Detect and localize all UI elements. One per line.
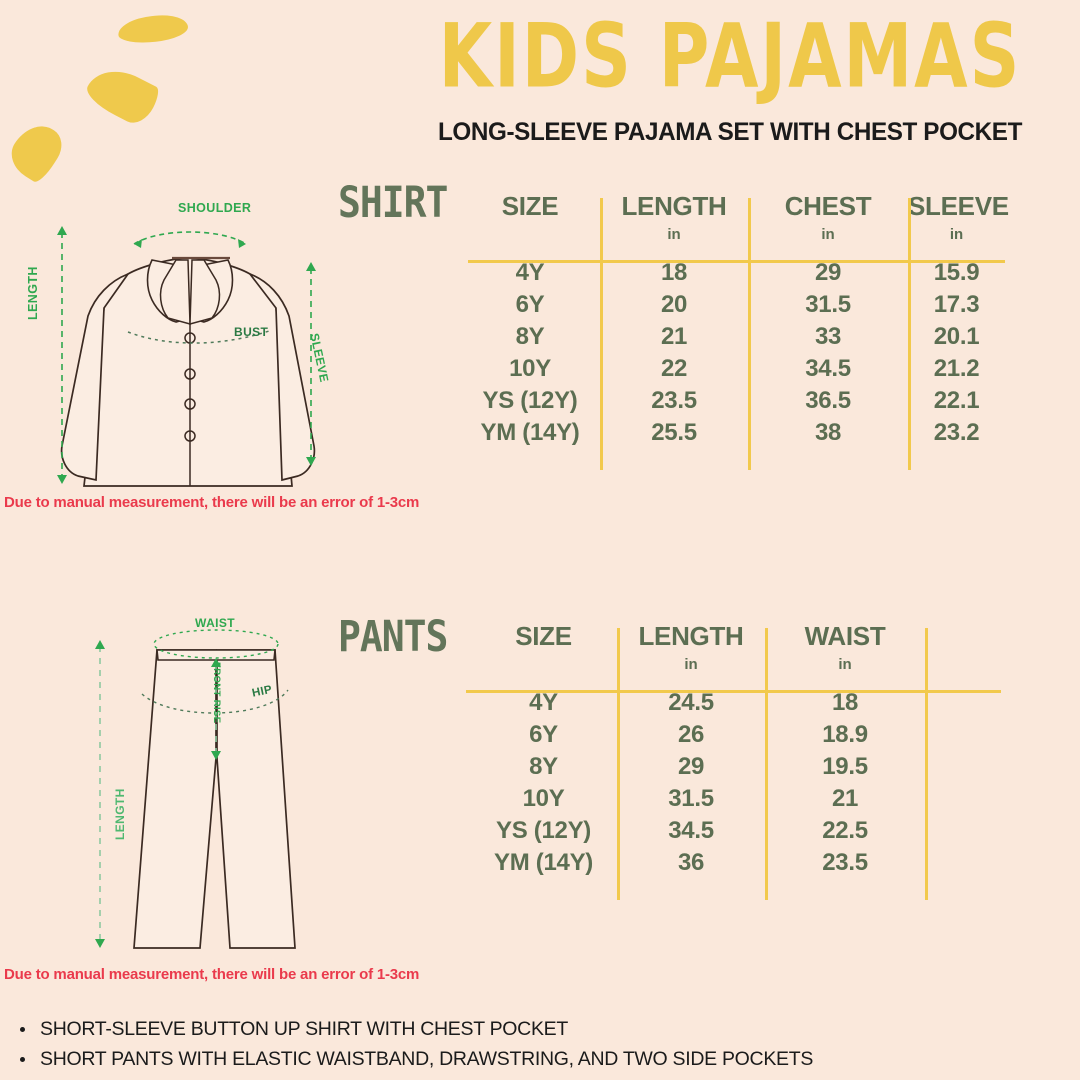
- shirt-label-shoulder: SHOULDER: [178, 201, 251, 215]
- pants-section-heading: PANTS: [338, 612, 447, 661]
- shirt-divider-2: [748, 198, 751, 470]
- shirt-table-body: 4Y 18 29 15.9 6Y 20 31.5 17.3 8Y 21 33 2…: [460, 257, 1005, 449]
- decorative-blob-2: [82, 59, 163, 129]
- pants-divider-1: [617, 628, 620, 900]
- table-row: YS (12Y) 23.5 36.5 22.1: [460, 385, 1005, 417]
- shirt-divider-3: [908, 198, 911, 470]
- table-row: 10Y 22 34.5 21.2: [460, 353, 1005, 385]
- pants-measurement-warning: Due to manual measurement, there will be…: [4, 966, 419, 983]
- pants-divider-2: [765, 628, 768, 900]
- pants-col-blank: [925, 622, 1005, 626]
- table-row: YM (14Y) 25.5 38 23.2: [460, 417, 1005, 449]
- shirt-col-size: SIZE: [460, 192, 600, 226]
- shirt-illustration: [0, 196, 360, 496]
- pants-header-rule: [466, 690, 1001, 693]
- shirt-col-sleeve: SLEEVE in: [908, 192, 1005, 243]
- list-item: SHORT-SLEEVE BUTTON UP SHIRT WITH CHEST …: [14, 1014, 1064, 1044]
- pants-divider-3: [925, 628, 928, 900]
- page-subtitle: LONG-SLEEVE PAJAMA SET WITH CHEST POCKET: [410, 118, 1050, 147]
- pants-col-length: LENGTH in: [617, 622, 765, 673]
- pants-col-size: SIZE: [470, 622, 617, 656]
- pants-label-length: LENGTH: [113, 788, 127, 840]
- pants-col-waist: WAIST in: [765, 622, 925, 673]
- shirt-size-table: SIZE LENGTH in CHEST in SLEEVE in 4Y 18 …: [460, 192, 1005, 449]
- shirt-label-length: LENGTH: [26, 266, 40, 320]
- shirt-label-bust: BUST: [234, 325, 268, 339]
- shirt-measurement-diagram: [0, 196, 360, 496]
- table-row: 8Y 21 33 20.1: [460, 321, 1005, 353]
- decorative-blob-1: [117, 12, 189, 45]
- list-item: SHORT PANTS WITH ELASTIC WAISTBAND, DRAW…: [14, 1044, 1064, 1074]
- product-feature-list: SHORT-SLEEVE BUTTON UP SHIRT WITH CHEST …: [14, 1014, 1064, 1074]
- shirt-header-rule: [468, 260, 1005, 263]
- table-row: 6Y 20 31.5 17.3: [460, 289, 1005, 321]
- shirt-col-chest: CHEST in: [748, 192, 908, 243]
- shirt-measurement-warning: Due to manual measurement, there will be…: [4, 494, 419, 511]
- decorative-blob-3: [3, 116, 69, 185]
- pants-illustration: [60, 608, 390, 968]
- shirt-table-header-row: SIZE LENGTH in CHEST in SLEEVE in: [460, 192, 1005, 243]
- pants-size-table: SIZE LENGTH in WAIST in 4Y 24.5 18 6Y 26: [470, 622, 1005, 879]
- pants-measurement-diagram: [60, 608, 390, 968]
- shirt-section-heading: SHIRT: [338, 178, 447, 227]
- shirt-col-length: LENGTH in: [600, 192, 748, 243]
- pants-label-waist: WAIST: [195, 616, 235, 630]
- pants-label-front-rise: FRONT RISE: [211, 662, 222, 724]
- page-title: KIDS PAJAMAS: [432, 12, 1027, 100]
- shirt-divider-1: [600, 198, 603, 470]
